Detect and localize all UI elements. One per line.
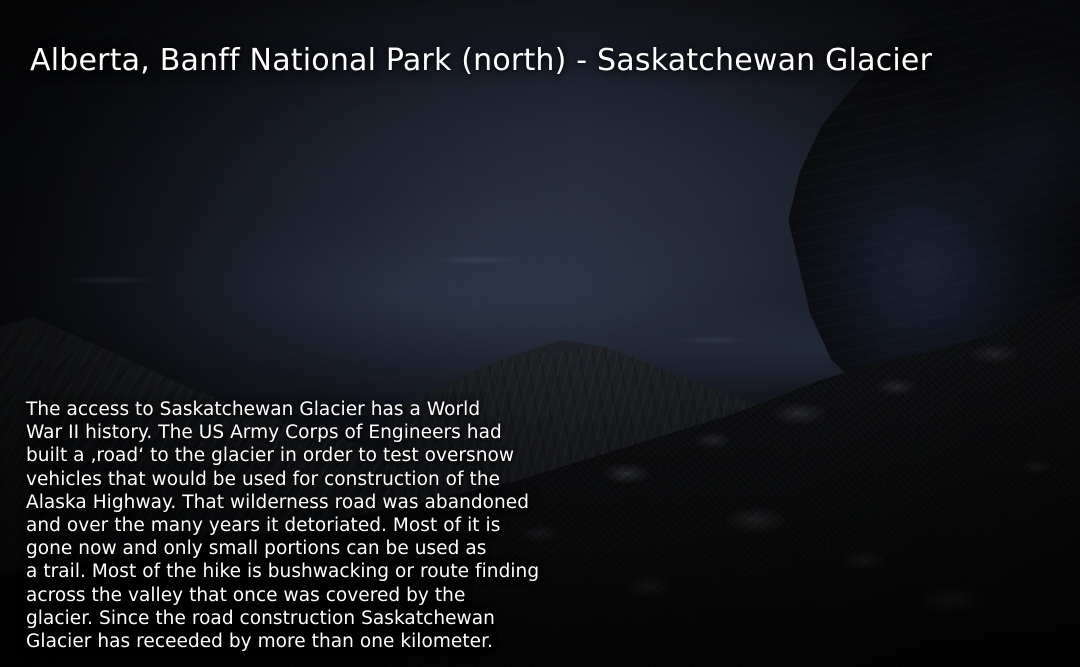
photo-caption: The access to Saskatchewan Glacier has a… <box>26 398 556 653</box>
caption-line: built a ‚road‘ to the glacier in order t… <box>26 444 556 467</box>
caption-line: and over the many years it detoriated. M… <box>26 514 556 537</box>
caption-line: War II history. The US Army Corps of Eng… <box>26 421 556 444</box>
caption-line: The access to Saskatchewan Glacier has a… <box>26 398 556 421</box>
caption-line: across the valley that once was covered … <box>26 584 556 607</box>
caption-line: gone now and only small portions can be … <box>26 537 556 560</box>
caption-line: vehicles that would be used for construc… <box>26 468 556 491</box>
photo-slide: Alberta, Banff National Park (north) - S… <box>0 0 1080 667</box>
caption-line: Glacier has receeded by more than one ki… <box>26 630 556 653</box>
caption-line: Alaska Highway. That wilderness road was… <box>26 491 556 514</box>
photo-title: Alberta, Banff National Park (north) - S… <box>30 43 932 78</box>
caption-line: glacier. Since the road construction Sas… <box>26 607 556 630</box>
caption-line: a trail. Most of the hike is bushwacking… <box>26 560 556 583</box>
